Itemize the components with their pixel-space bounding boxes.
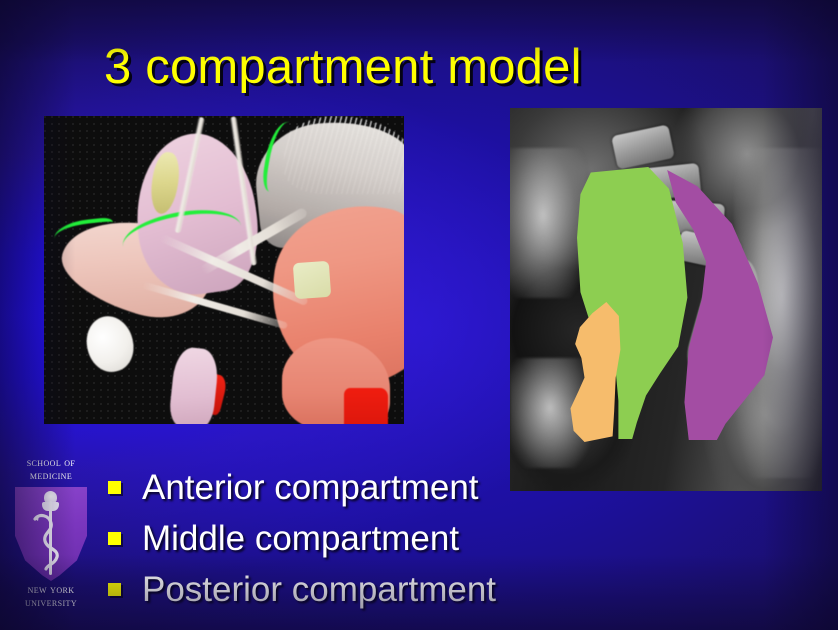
square-bullet-icon [108,481,121,494]
logo-line-school-of: School of [9,457,93,470]
list-item: Posterior compartment [108,564,668,615]
list-item: Middle compartment [108,513,668,564]
anterior-abdominal-fat [510,148,586,298]
slide-title: 3 compartment model [104,38,764,96]
bullet-label-anterior: Anterior compartment [142,468,479,508]
presentation-slide: 3 compartment model [0,0,838,630]
bullet-list: Anterior compartment Middle compartment … [108,462,668,615]
nyu-school-of-medicine-logo: School of Medicine New York University [9,455,93,617]
yellow-patch-marker [293,261,331,299]
square-bullet-icon [108,583,121,596]
logo-line-medicine: Medicine [9,470,93,483]
logo-line-new-york: New York [9,584,93,597]
list-item: Anterior compartment [108,462,668,513]
pelvic-anatomy-model-image [44,116,404,424]
bullet-label-posterior: Posterior compartment [142,570,496,610]
serpent-icon [33,509,69,571]
sagittal-pelvic-mri-image [510,108,822,491]
red-marker-lower [344,388,388,424]
bullet-label-middle: Middle compartment [142,519,459,559]
square-bullet-icon [108,532,121,545]
logo-top-text: School of Medicine [9,457,93,483]
logo-line-university: University [9,597,93,610]
logo-bottom-text: New York University [9,584,93,610]
shield-emblem [15,487,87,581]
